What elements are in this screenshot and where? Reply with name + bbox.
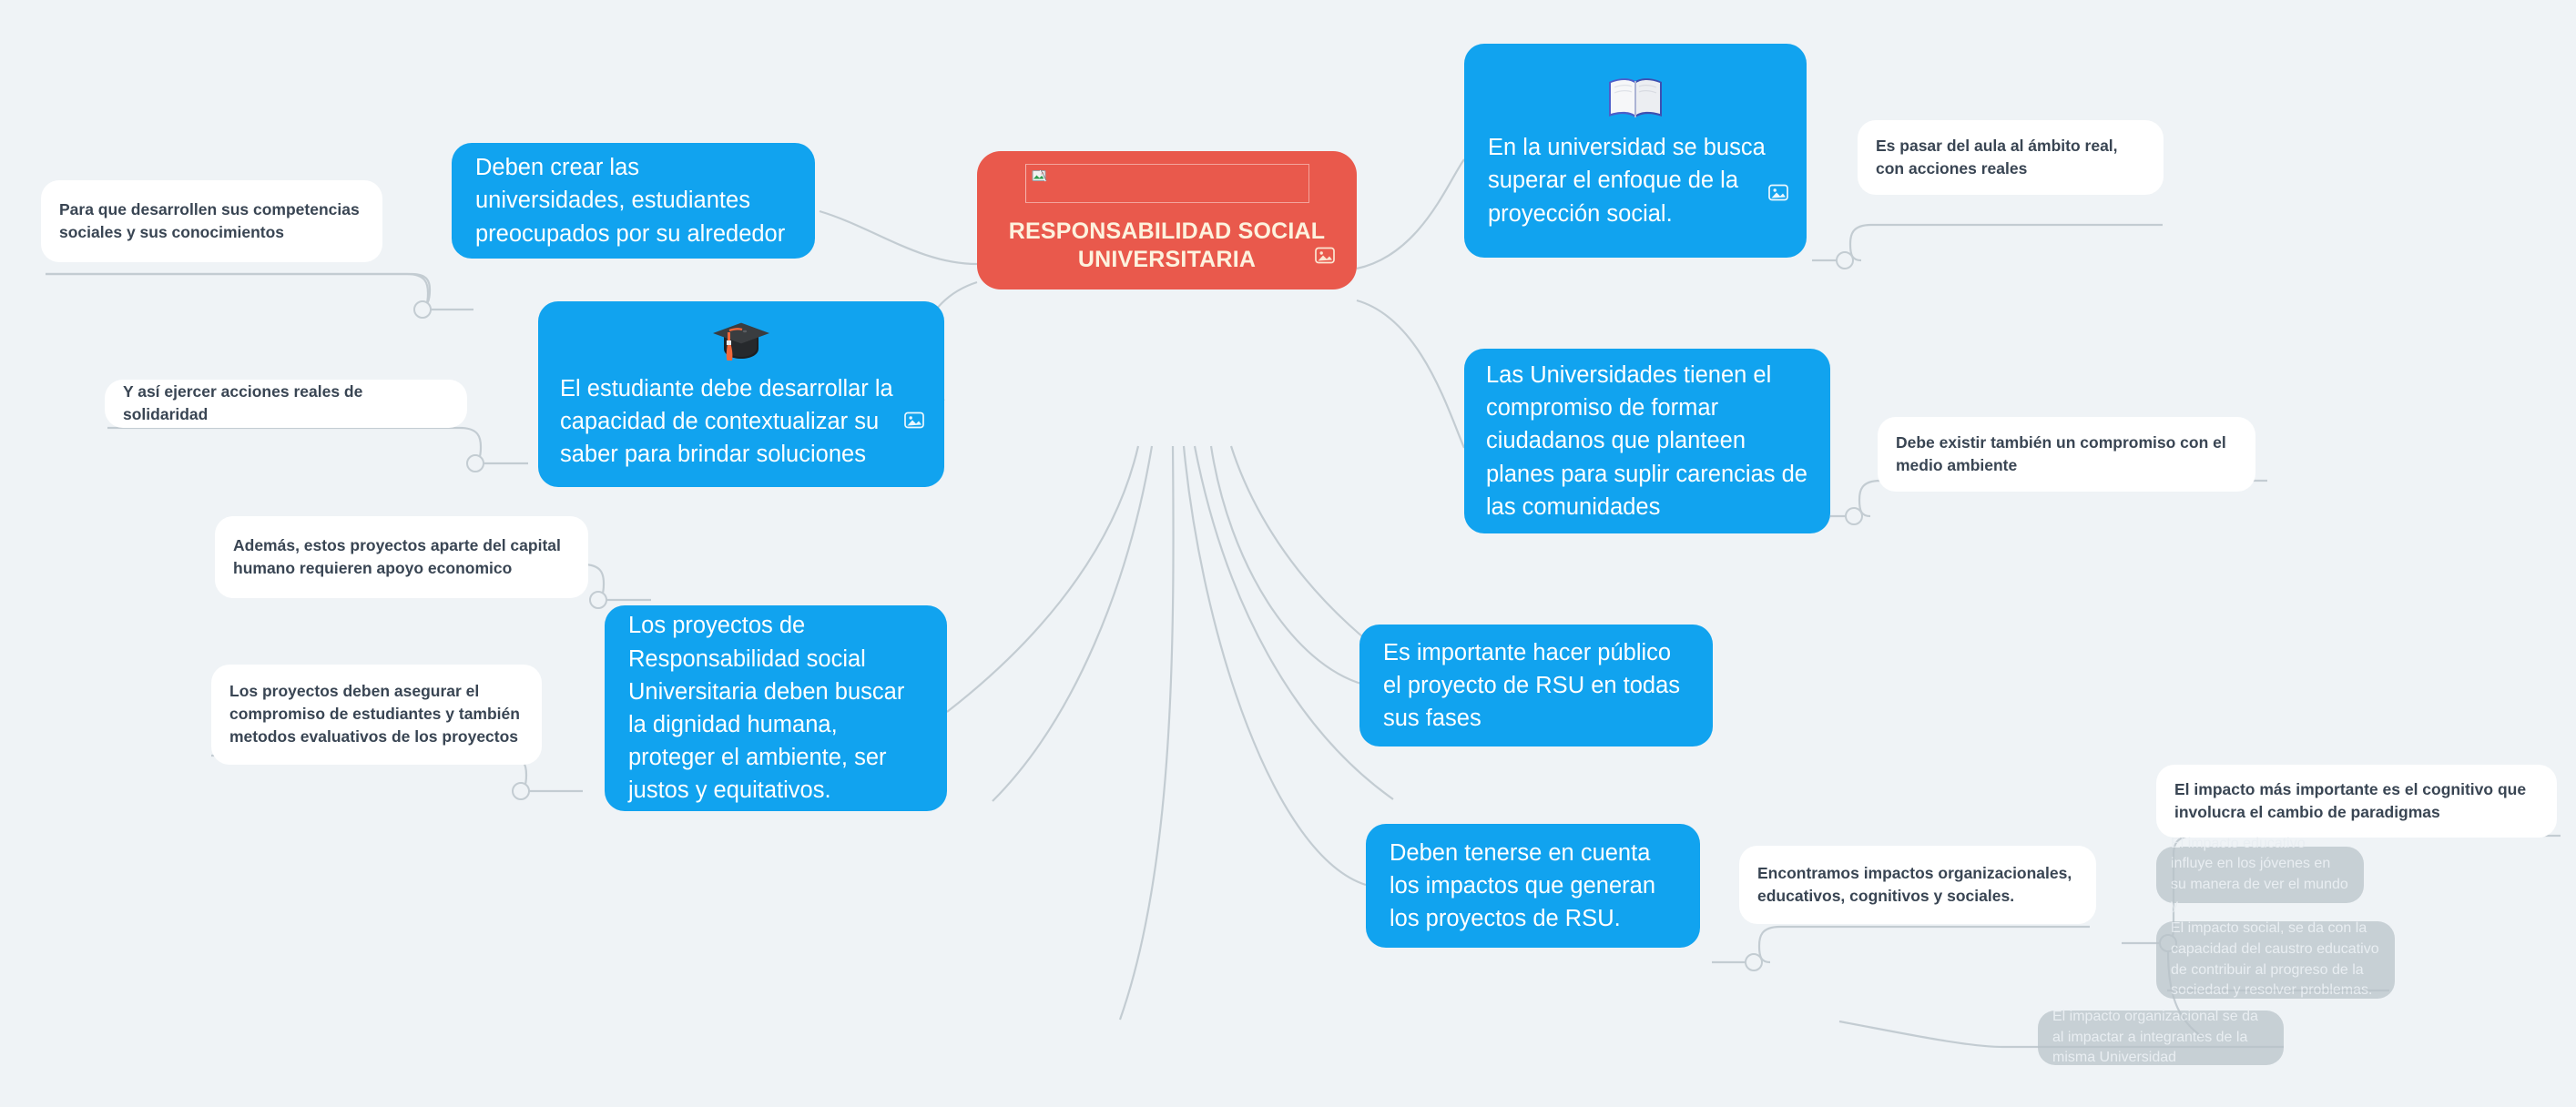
- branch-proyectos-rsu[interactable]: Los proyectos de Responsabilidad social …: [605, 605, 947, 811]
- branch-universidades-compromiso-label: Las Universidades tienen el compromiso d…: [1486, 359, 1808, 523]
- mindmap-canvas[interactable]: RESPONSABILIDAD SOCIAL UNIVERSITARIA Deb…: [0, 0, 2576, 1107]
- branch-impactos-rsu-label: Deben tenerse en cuenta los impactos que…: [1390, 837, 1676, 936]
- broken-image-icon: [1032, 169, 1047, 184]
- open-book-icon: [1605, 71, 1665, 124]
- note-aula-ambito-real-label: Es pasar del aula al ámbito real, con ac…: [1876, 135, 2145, 180]
- image-attachment-icon[interactable]: [904, 411, 924, 429]
- central-topic-node[interactable]: RESPONSABILIDAD SOCIAL UNIVERSITARIA: [977, 151, 1357, 289]
- branch-estudiante-contextualizar-label: El estudiante debe desarrollar la capaci…: [560, 372, 922, 472]
- ghost-impacto-educativo-label: El impacto educativo influye en los jóve…: [2171, 834, 2349, 917]
- image-attachment-icon[interactable]: [1768, 184, 1788, 201]
- note-medio-ambiente-label: Debe existir también un compromiso con e…: [1896, 432, 2237, 477]
- branch-impactos-rsu[interactable]: Deben tenerse en cuenta los impactos que…: [1366, 824, 1700, 948]
- note-impacto-cognitivo-label: El impacto más importante es el cognitiv…: [2174, 778, 2539, 824]
- branch-estudiante-contextualizar[interactable]: El estudiante debe desarrollar la capaci…: [538, 301, 944, 487]
- ghost-impacto-educativo[interactable]: El impacto educativo influye en los jóve…: [2156, 847, 2364, 903]
- branch-proyectos-rsu-label: Los proyectos de Responsabilidad social …: [628, 609, 923, 807]
- note-acciones-solidaridad[interactable]: Y así ejercer acciones reales de solidar…: [105, 380, 467, 428]
- branch-hacer-publico-label: Es importante hacer público el proyecto …: [1383, 636, 1689, 736]
- branch-universidad-proyeccion[interactable]: En la universidad se busca superar el en…: [1464, 44, 1807, 258]
- branch-universidades-compromiso[interactable]: Las Universidades tienen el compromiso d…: [1464, 349, 1830, 533]
- graduation-cap-icon: [711, 318, 771, 365]
- central-topic-label: RESPONSABILIDAD SOCIAL UNIVERSITARIA: [993, 218, 1340, 273]
- image-attachment-icon[interactable]: [1315, 247, 1335, 264]
- ghost-impacto-organizacional-label: El impacto organizacional se da al impac…: [2052, 1007, 2269, 1069]
- ghost-impacto-social-label: El impacto social, se da con la capacida…: [2171, 919, 2380, 1001]
- note-competencias-sociales[interactable]: Para que desarrollen sus competencias so…: [41, 180, 382, 262]
- note-aula-ambito-real[interactable]: Es pasar del aula al ámbito real, con ac…: [1858, 120, 2164, 195]
- branch-hacer-publico[interactable]: Es importante hacer público el proyecto …: [1359, 625, 1713, 746]
- note-acciones-solidaridad-label: Y así ejercer acciones reales de solidar…: [123, 381, 449, 426]
- note-impactos-tipos[interactable]: Encontramos impactos organizacionales, e…: [1739, 846, 2096, 924]
- branch-universidad-proyeccion-label: En la universidad se busca superar el en…: [1488, 131, 1783, 230]
- ghost-impacto-social[interactable]: El impacto social, se da con la capacida…: [2156, 921, 2395, 999]
- note-competencias-sociales-label: Para que desarrollen sus competencias so…: [59, 198, 364, 244]
- note-compromiso-estudiantes-label: Los proyectos deben asegurar el compromi…: [229, 680, 524, 748]
- note-apoyo-economico[interactable]: Además, estos proyectos aparte del capit…: [215, 516, 588, 598]
- central-image-placeholder: [1025, 164, 1309, 203]
- ghost-impacto-organizacional[interactable]: El impacto organizacional se da al impac…: [2038, 1011, 2284, 1065]
- branch-deben-crear[interactable]: Deben crear las universidades, estudiant…: [452, 143, 815, 259]
- note-impacto-cognitivo[interactable]: El impacto más importante es el cognitiv…: [2156, 765, 2557, 838]
- note-compromiso-estudiantes[interactable]: Los proyectos deben asegurar el compromi…: [211, 665, 542, 765]
- note-impactos-tipos-label: Encontramos impactos organizacionales, e…: [1757, 862, 2078, 908]
- note-apoyo-economico-label: Además, estos proyectos aparte del capit…: [233, 534, 570, 580]
- branch-deben-crear-label: Deben crear las universidades, estudiant…: [475, 151, 791, 250]
- note-medio-ambient<br>e[interactable]: Debe existir también un compromiso con e…: [1878, 417, 2255, 492]
